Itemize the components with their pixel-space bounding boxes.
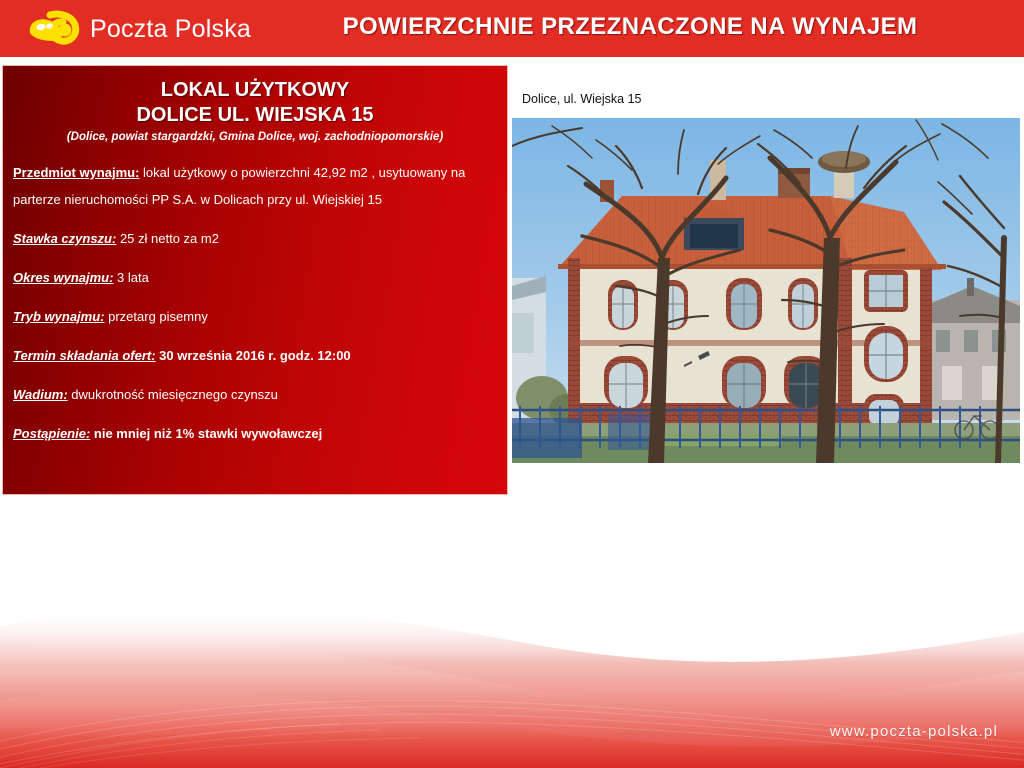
offer-details-list: Przedmiot wynajmu: lokal użytkowy o powi… (3, 159, 507, 447)
brand-logo[interactable]: Poczta Polska (26, 7, 276, 51)
detail-value: 25 zł netto za m2 (116, 231, 219, 246)
detail-label: Wadium: (13, 387, 68, 402)
property-photo (512, 118, 1020, 463)
detail-row-lease-period: Okres wynajmu: 3 lata (13, 264, 493, 291)
detail-label: Przedmiot wynajmu: (13, 165, 139, 180)
detail-row-lease-mode: Tryb wynajmu: przetarg pisemny (13, 303, 493, 330)
offer-title-line1: LOKAL UŻYTKOWY (3, 78, 507, 103)
detail-row-offer-deadline: Termin składania ofert: 30 września 2016… (13, 342, 493, 369)
detail-label: Okres wynajmu: (13, 270, 113, 285)
detail-label: Postąpienie: (13, 426, 90, 441)
offer-title: LOKAL UŻYTKOWY DOLICE UL. WIEJSKA 15 (3, 78, 507, 128)
offer-title-line2: DOLICE UL. WIEJSKA 15 (3, 103, 507, 128)
detail-row-rent-rate: Stawka czynszu: 25 zł netto za m2 (13, 225, 493, 252)
detail-value: 3 lata (113, 270, 148, 285)
detail-value: dwukrotność miesięcznego czynszu (68, 387, 278, 402)
detail-value: 30 września 2016 r. godz. 12:00 (156, 348, 351, 363)
detail-row-deposit: Wadium: dwukrotność miesięcznego czynszu (13, 381, 493, 408)
detail-value: nie mniej niż 1% stawki wywoławczej (90, 426, 322, 441)
detail-row-subject: Przedmiot wynajmu: lokal użytkowy o powi… (13, 159, 493, 213)
offer-subtitle: (Dolice, powiat stargardzki, Gmina Dolic… (3, 131, 507, 143)
detail-value: przetarg pisemny (105, 309, 208, 324)
header-bar: Poczta Polska POWIERZCHNIE PRZEZNACZONE … (0, 0, 1024, 57)
detail-label: Tryb wynajmu: (13, 309, 105, 324)
brand-name: Poczta Polska (90, 15, 251, 44)
detail-label: Termin składania ofert: (13, 348, 156, 363)
photo-caption: Dolice, ul. Wiejska 15 (522, 92, 642, 106)
footer-website-url: www.poczta-polska.pl (830, 723, 998, 740)
detail-row-bid-increment: Postąpienie: nie mniej niż 1% stawki wyw… (13, 420, 493, 447)
page-title: POWIERZCHNIE PRZEZNACZONE NA WYNAJEM (280, 13, 980, 41)
offer-info-panel: LOKAL UŻYTKOWY DOLICE UL. WIEJSKA 15 (Do… (2, 65, 508, 495)
detail-label: Stawka czynszu: (13, 231, 116, 246)
property-photo-image (512, 118, 1020, 463)
post-horn-icon (26, 9, 82, 49)
footer-wave-decoration: www.poczta-polska.pl (0, 558, 1024, 768)
